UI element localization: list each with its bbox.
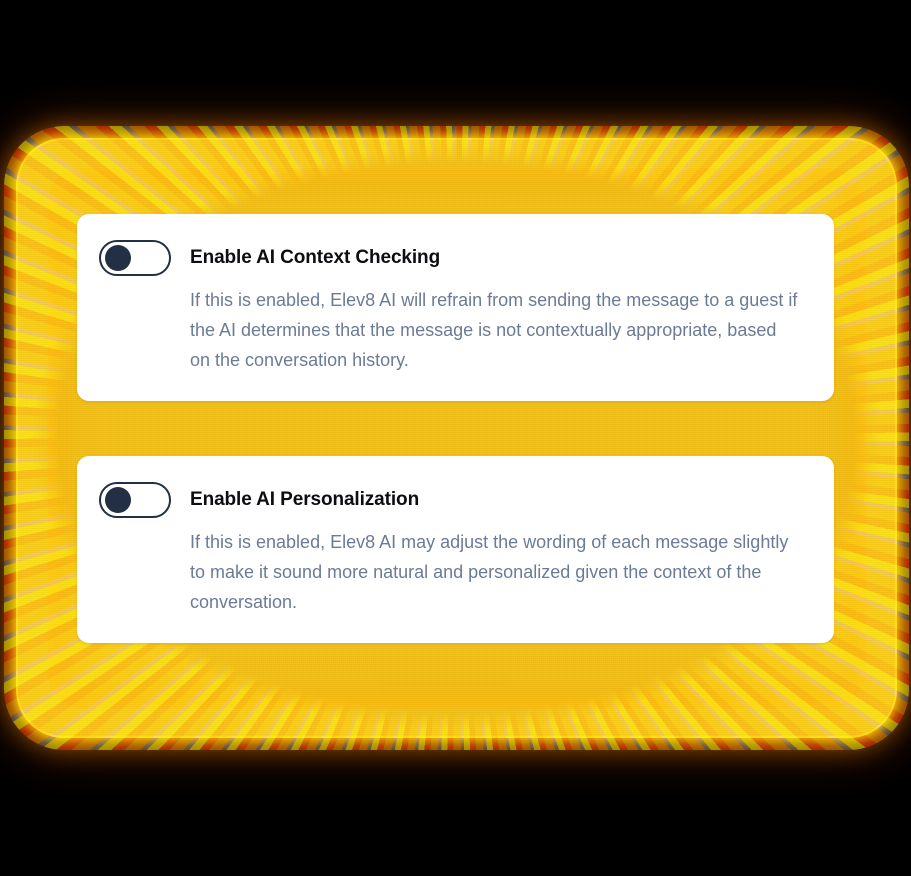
settings-card-list: Enable AI Context Checking If this is en… bbox=[77, 214, 834, 643]
toggle-switch-off-icon[interactable] bbox=[99, 482, 171, 518]
setting-card-header: Enable AI Personalization bbox=[99, 482, 806, 518]
setting-title: Enable AI Context Checking bbox=[190, 247, 440, 270]
toggle-knob bbox=[105, 245, 131, 271]
setting-description: If this is enabled, Elev8 AI will refrai… bbox=[190, 285, 800, 375]
setting-card-header: Enable AI Context Checking bbox=[99, 240, 806, 276]
setting-card-ai-context-checking: Enable AI Context Checking If this is en… bbox=[77, 214, 834, 401]
toggle-switch-off-icon[interactable] bbox=[99, 240, 171, 276]
toggle-knob bbox=[105, 487, 131, 513]
screenshot-stage: Enable AI Context Checking If this is en… bbox=[0, 0, 911, 876]
setting-title: Enable AI Personalization bbox=[190, 489, 419, 512]
setting-description: If this is enabled, Elev8 AI may adjust … bbox=[190, 527, 800, 617]
setting-card-ai-personalization: Enable AI Personalization If this is ena… bbox=[77, 456, 834, 643]
